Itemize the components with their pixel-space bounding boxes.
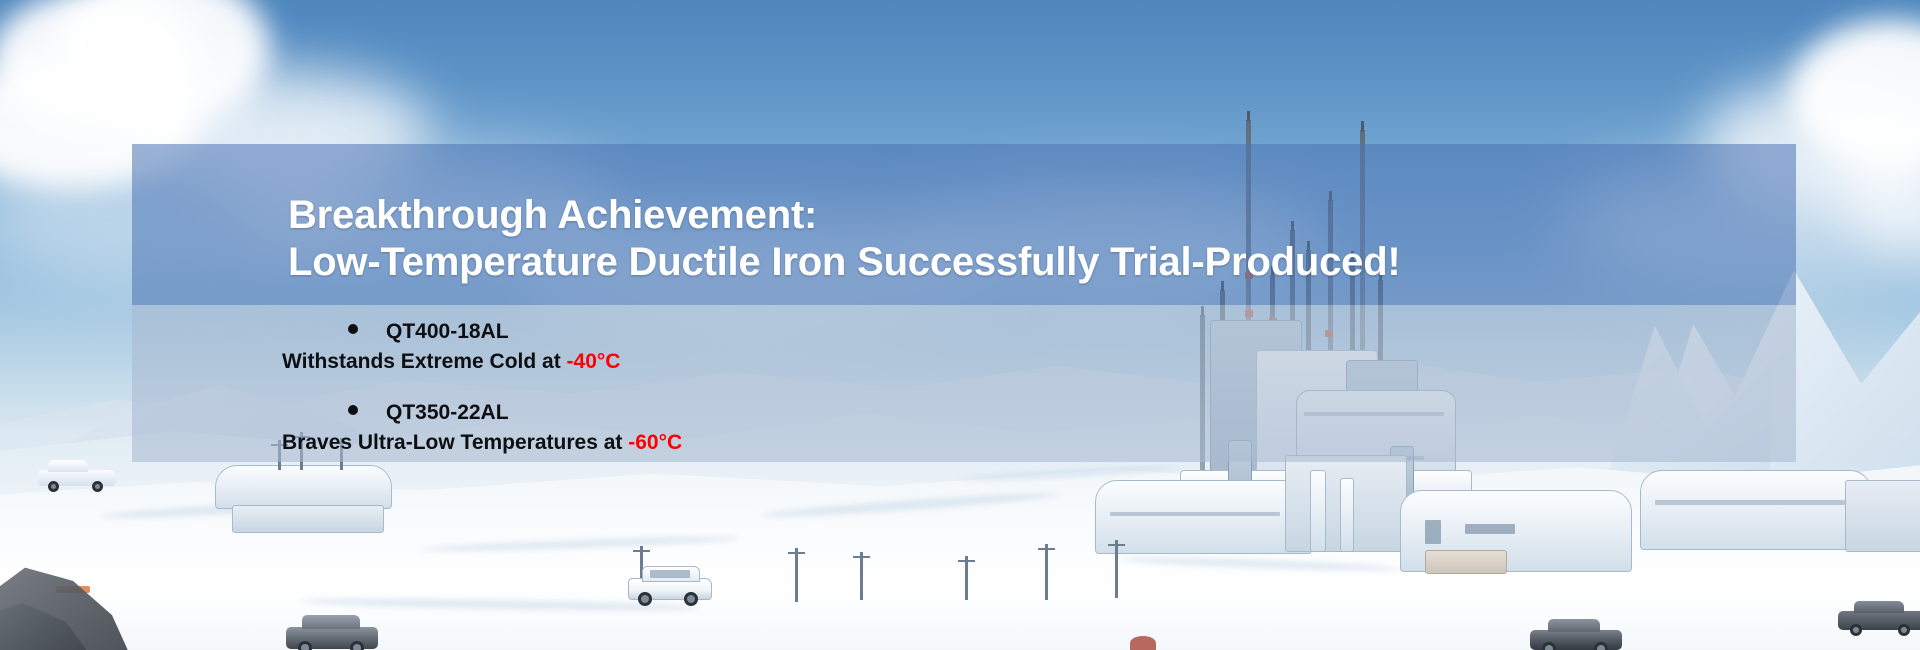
vehicle-suv-center xyxy=(628,568,710,606)
utility-pole-5 xyxy=(1115,540,1118,598)
bullet-grade-1: QT400-18AL xyxy=(386,318,509,346)
bullet-dot-icon xyxy=(348,405,358,415)
building-far-right-end xyxy=(1845,480,1920,552)
bullet-item-2: QT350-22AL xyxy=(132,399,1796,427)
vehicle-suv-bottom-left xyxy=(286,615,378,650)
suv-bl-wheel-rear xyxy=(350,641,364,650)
building-far-right-stripe xyxy=(1655,500,1845,505)
bullet-description-text-2: Braves Ultra-Low Temperatures at xyxy=(282,431,628,454)
bullet-grade-2: QT350-22AL xyxy=(386,399,509,427)
building-pipe-rack xyxy=(1310,470,1326,552)
car-fr-wheel-front xyxy=(1850,624,1862,636)
bullet-description-text-1: Withstands Extreme Cold at xyxy=(282,350,567,373)
car-br-cab xyxy=(1548,619,1600,632)
bullet-description-1: Withstands Extreme Cold at -40°C xyxy=(132,348,1796,376)
utility-pole-3 xyxy=(860,552,863,600)
suv-bl-cab xyxy=(302,615,360,629)
headline: Breakthrough Achievement: Low-Temperatur… xyxy=(288,192,1708,286)
suv-wheel-front xyxy=(638,592,652,606)
bullet-group-1: QT400-18AL Withstands Extreme Cold at -4… xyxy=(132,318,1796,377)
suv-wheel-rear xyxy=(684,592,698,606)
red-marker-center xyxy=(1130,636,1156,650)
bullet-description-2: Braves Ultra-Low Temperatures at -60°C xyxy=(132,429,1796,457)
utility-pole-2 xyxy=(795,548,798,602)
vehicle-truck-left xyxy=(38,462,116,492)
truck-left-wheel-front xyxy=(48,481,59,492)
truck-left-wheel-rear xyxy=(92,481,103,492)
suv-bl-wheel-front xyxy=(298,641,312,650)
building-left-support xyxy=(232,505,384,533)
car-br-wheel-front xyxy=(1542,642,1556,650)
car-fr-cab xyxy=(1854,601,1904,613)
bullet-list: QT400-18AL Withstands Extreme Cold at -4… xyxy=(132,318,1796,479)
bullet-temperature-2: -60°C xyxy=(628,431,682,454)
suv-window xyxy=(650,570,690,578)
building-crate-stack xyxy=(1425,550,1507,574)
headline-line-2: Low-Temperature Ductile Iron Successfull… xyxy=(288,239,1708,286)
building-far-right xyxy=(1640,470,1872,550)
hangar-right-window-2 xyxy=(1465,524,1515,534)
car-br-wheel-rear xyxy=(1594,642,1608,650)
truck-left-cab xyxy=(48,460,88,472)
building-hangar-left xyxy=(1095,480,1312,554)
hangar-right-window-1 xyxy=(1425,520,1441,544)
headline-line-1: Breakthrough Achievement: xyxy=(288,192,1708,239)
bullet-dot-icon xyxy=(348,324,358,334)
banner-root: Breakthrough Achievement: Low-Temperatur… xyxy=(0,0,1920,650)
car-fr-wheel-rear xyxy=(1898,624,1910,636)
utility-pole-4 xyxy=(1045,544,1048,600)
vehicle-car-far-right xyxy=(1838,600,1920,636)
bullet-temperature-1: -40°C xyxy=(567,350,621,373)
building-pipe-rack-2 xyxy=(1340,478,1354,552)
bullet-group-2: QT350-22AL Braves Ultra-Low Temperatures… xyxy=(132,399,1796,458)
bullet-item-1: QT400-18AL xyxy=(132,318,1796,346)
utility-pole-6 xyxy=(965,556,968,600)
hangar-left-stripe xyxy=(1110,512,1280,516)
vehicle-car-bottom-right xyxy=(1530,618,1622,650)
